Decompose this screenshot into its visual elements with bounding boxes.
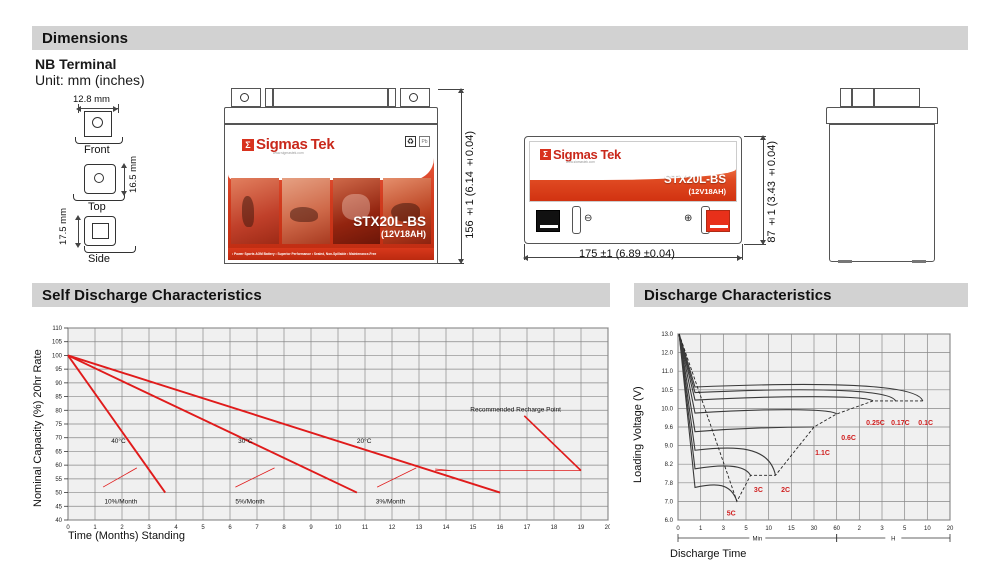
sd-annotation: 30°C <box>238 437 253 445</box>
dc-label-3C: 3C <box>754 487 763 494</box>
sd-ytick-60: 60 <box>55 463 62 469</box>
vent-left <box>265 88 273 107</box>
dc-xtick-10: 10 <box>765 526 772 532</box>
photo-atv <box>333 178 381 244</box>
front-height-arrow-down <box>458 259 464 264</box>
sd-xtick-2: 2 <box>120 525 124 531</box>
positive-terminal-block <box>706 210 730 232</box>
battery-side-view: Σ Sigmas Tek www.sigmastek.com STX20L-BS… <box>524 136 742 244</box>
sd-xtick-15: 15 <box>470 525 477 531</box>
terminal-front-hole <box>92 117 103 128</box>
dc-ytick-13.0: 13.0 <box>661 332 673 338</box>
sd-annotation: Recommended Recharge Point <box>470 407 561 414</box>
sd-ytick-75: 75 <box>55 422 62 428</box>
width-ext-right-2 <box>742 244 743 260</box>
front-height-dim-line <box>461 89 462 263</box>
section-title-dimensions: Dimensions <box>42 30 128 47</box>
battery-front-view: Σ Sigmas Tek www.sigmastek.com ♻ Pb <box>224 88 438 264</box>
dc-xtick-0: 0 <box>676 526 680 532</box>
positive-terminal-bar <box>710 225 728 228</box>
section-header-discharge: Discharge Characteristics <box>634 283 968 307</box>
brand-name-secondary-side: Tek <box>600 147 621 162</box>
section-title-self-discharge: Self Discharge Characteristics <box>42 287 262 304</box>
sd-ytick-40: 40 <box>55 518 62 524</box>
battery-tagline: • Power Sports AGM Battery • Superior Pe… <box>232 252 376 256</box>
minus-polarity-icon: ⊖ <box>584 213 592 224</box>
sd-annotation: 20°C <box>357 437 372 445</box>
sd-ytick-80: 80 <box>55 408 62 414</box>
sd-ytick-90: 90 <box>55 381 62 387</box>
side-width-arrow-right <box>737 255 742 261</box>
sd-xtick-11: 11 <box>362 525 369 531</box>
recycle-icon: ♻ <box>405 136 416 147</box>
side-height-arrow-down <box>75 243 81 248</box>
back-foot-right <box>912 260 926 263</box>
sd-ytick-85: 85 <box>55 395 62 401</box>
terminal-side-base <box>84 246 136 253</box>
photo-motocross-shape <box>242 196 254 226</box>
back-cap-left <box>852 88 874 107</box>
sd-xtick-6: 6 <box>228 525 232 531</box>
top-height-arrow-down <box>121 191 127 196</box>
battery-height-label: 156 ±1 (6.14 ±0.04) <box>464 131 476 239</box>
dc-label-1.1C: 1.1C <box>815 450 830 457</box>
battery-label-front: Σ Sigmas Tek www.sigmastek.com ♻ Pb <box>228 128 434 260</box>
sd-annotation: 5%/Month <box>235 499 265 506</box>
sigma-logo-icon: Σ <box>242 139 254 151</box>
battery-model-name: STX20L-BS <box>353 214 426 229</box>
sd-xtick-3: 3 <box>147 525 151 531</box>
sd-ytick-95: 95 <box>55 367 62 373</box>
dc-axis-group-H: H <box>891 537 895 543</box>
sd-annotation: 3%/Month <box>376 499 406 506</box>
terminal-top-height-label: 16.5 mm <box>128 156 139 193</box>
plus-polarity-icon: ⊕ <box>684 213 692 224</box>
dc-xtick-2: 2 <box>858 526 862 532</box>
dc-ytick-8.2: 8.2 <box>665 462 674 468</box>
side-width-arrow-left <box>523 255 528 261</box>
terminal-side-height-label: 17.5 mm <box>58 208 69 245</box>
dc-xtick-20: 20 <box>947 526 954 532</box>
sd-xtick-13: 13 <box>416 525 423 531</box>
photo-snowmobile <box>282 178 330 244</box>
pb-glyph: Pb <box>421 139 427 145</box>
side-depth-dim-line <box>763 136 764 244</box>
dc-ytick-10.0: 10.0 <box>661 406 673 412</box>
sd-xtick-14: 14 <box>443 525 450 531</box>
battery-back-view <box>826 88 938 264</box>
terminal-front-base <box>75 137 123 144</box>
pb-icon: Pb <box>419 136 430 147</box>
discharge-plot: 013510153060235102013.012.011.010.510.09… <box>630 320 990 570</box>
sd-xtick-5: 5 <box>201 525 205 531</box>
negative-terminal-bar <box>540 225 558 228</box>
battery-depth-label: 87 ±1 (3.43 ±0.04) <box>766 141 778 243</box>
sd-xtick-20: 20 <box>605 525 610 531</box>
dc-ytick-11.0: 11.0 <box>662 369 674 375</box>
photo-snowmobile-shape <box>290 207 318 222</box>
label-footer-band: • Power Sports AGM Battery • Superior Pe… <box>228 248 434 260</box>
dc-label-0.17C: 0.17C <box>891 420 910 427</box>
brand-url: www.sigmastek.com <box>273 151 304 155</box>
top-height-arrow-up <box>121 163 127 168</box>
dc-ytick-9.0: 9.0 <box>665 444 674 450</box>
sd-ytick-105: 105 <box>52 340 63 346</box>
dc-ytick-10.5: 10.5 <box>661 388 673 394</box>
dc-ytick-12.0: 12.0 <box>661 351 673 357</box>
dc-xtick-60: 60 <box>833 526 840 532</box>
depth-arrow-up <box>760 135 766 140</box>
sd-xtick-19: 19 <box>578 525 585 531</box>
width-ext-left <box>78 104 79 113</box>
brand-name-secondary: Tek <box>311 136 335 153</box>
swoosh-curve <box>228 158 434 180</box>
sd-annotation: 10%/Month <box>104 499 137 506</box>
vent-cap-left <box>572 206 581 234</box>
dc-label-0.1C: 0.1C <box>918 420 933 427</box>
sd-xtick-0: 0 <box>66 525 70 531</box>
sd-xtick-12: 12 <box>389 525 396 531</box>
dc-ytick-7.0: 7.0 <box>665 499 674 505</box>
sd-xtick-16: 16 <box>497 525 504 531</box>
negative-terminal-block <box>536 210 560 232</box>
top-height-dim-line <box>124 165 125 194</box>
dc-label-2C: 2C <box>781 487 790 494</box>
dc-label-0.25C: 0.25C <box>866 420 885 427</box>
sd-ytick-110: 110 <box>52 326 62 332</box>
side-height-arrow-up <box>75 215 81 220</box>
nb-terminal-heading: NB Terminal <box>35 56 116 72</box>
dc-xtick-30: 30 <box>811 526 818 532</box>
battery-width-label: 175 ±1 (6.89 ±0.04) <box>579 248 675 260</box>
sd-xtick-1: 1 <box>93 525 97 531</box>
sd-annotation: 40°C <box>111 437 126 445</box>
sigma-logo-icon-side: Σ <box>540 149 551 160</box>
terminal-side-caption: Side <box>88 253 110 265</box>
dc-xtick-5: 5 <box>903 526 907 532</box>
discharge-chart: Loading Voltage (V) Discharge Time 01351… <box>630 320 990 570</box>
sd-xtick-17: 17 <box>524 525 531 531</box>
self-discharge-plot: 0123456789101112131415161718192040455055… <box>30 320 610 570</box>
terminal-right-hole <box>409 93 418 102</box>
battery-model-spec-side: (12V18AH) <box>688 187 726 196</box>
sd-ytick-50: 50 <box>55 491 62 497</box>
recycle-glyph: ♻ <box>407 138 414 146</box>
dc-xtick-10: 10 <box>924 526 931 532</box>
sd-ytick-70: 70 <box>55 436 62 442</box>
section-header-dimensions: Dimensions <box>32 26 968 50</box>
dc-xtick-15: 15 <box>788 526 795 532</box>
photo-motocross <box>231 178 279 244</box>
front-height-arrow-up <box>458 88 464 93</box>
section-header-self-discharge: Self Discharge Characteristics <box>32 283 610 307</box>
dc-xtick-5: 5 <box>744 526 748 532</box>
dc-axis-group-Min: Min <box>752 537 762 543</box>
sd-ytick-65: 65 <box>55 449 62 455</box>
sd-xtick-8: 8 <box>282 525 286 531</box>
sd-xtick-18: 18 <box>551 525 558 531</box>
self-discharge-chart: Nominal Capacity (%) 20hr Rate Time (Mon… <box>30 320 610 570</box>
dc-ytick-6.0: 6.0 <box>665 518 674 524</box>
battery-model-spec: (12V18AH) <box>381 229 426 239</box>
side-height-dim-line <box>78 217 79 246</box>
back-cap-mid <box>874 88 920 107</box>
terminal-top-caption: Top <box>88 201 106 213</box>
sd-xtick-10: 10 <box>335 525 342 531</box>
sd-xtick-4: 4 <box>174 525 178 531</box>
battery-lid <box>224 107 438 124</box>
terminal-side-inner <box>92 223 109 239</box>
back-case <box>829 124 935 262</box>
back-lid <box>826 107 938 124</box>
terminal-top-hole <box>94 173 104 183</box>
sd-ytick-100: 100 <box>52 353 63 359</box>
sd-ytick-55: 55 <box>55 477 62 483</box>
dc-xtick-3: 3 <box>880 526 884 532</box>
terminal-front-caption: Front <box>84 144 110 156</box>
vent-right <box>388 88 396 107</box>
back-vent-left <box>840 88 852 107</box>
dc-xtick-1: 1 <box>699 526 703 532</box>
unit-note: Unit: mm (inches) <box>35 72 145 88</box>
dc-label-5C: 5C <box>727 510 736 517</box>
back-foot-left <box>838 260 852 263</box>
section-title-discharge: Discharge Characteristics <box>644 287 832 304</box>
dc-label-0.6C: 0.6C <box>841 435 856 442</box>
sd-xtick-7: 7 <box>255 525 259 531</box>
dc-ytick-7.8: 7.8 <box>665 481 674 487</box>
battery-model-name-side: STX20L-BS <box>664 174 726 186</box>
width-ext-right <box>118 104 119 113</box>
dc-xtick-3: 3 <box>722 526 726 532</box>
width-dim-line <box>78 108 118 109</box>
cap-strip <box>273 88 388 107</box>
terminal-left-hole <box>240 93 249 102</box>
sd-xtick-9: 9 <box>309 525 313 531</box>
sd-ytick-45: 45 <box>55 504 62 510</box>
dc-ytick-9.6: 9.6 <box>665 425 674 431</box>
battery-label-side: Σ Sigmas Tek www.sigmastek.com STX20L-BS… <box>529 141 737 202</box>
terminal-top-base <box>73 194 125 201</box>
